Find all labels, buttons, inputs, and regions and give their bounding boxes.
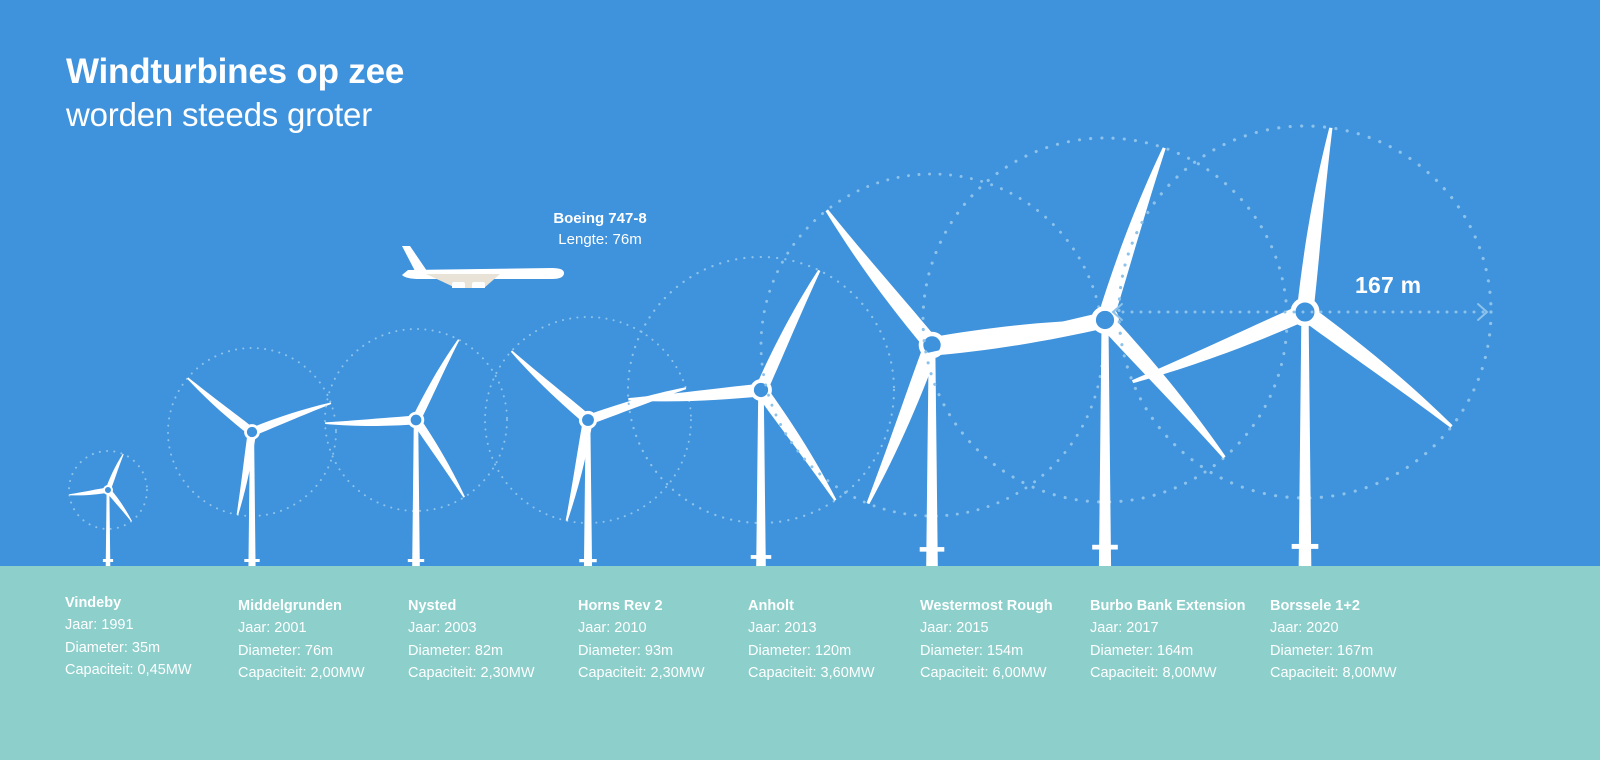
- tower-platform-collar: [751, 555, 772, 559]
- legend-item-capacity: Capaciteit: 8,00MW: [1270, 662, 1397, 685]
- legend-item-capacity: Capaciteit: 6,00MW: [920, 662, 1053, 685]
- tower-platform-collar: [1092, 545, 1118, 550]
- legend-item-year: Jaar: 2017: [1090, 617, 1246, 640]
- rotor-hub: [246, 426, 259, 439]
- wind-turbine: [1119, 126, 1491, 583]
- legend-item: AnholtJaar: 2013Diameter: 120mCapaciteit…: [748, 595, 875, 685]
- legend-item-diameter: Diameter: 35m: [65, 637, 192, 660]
- infographic-canvas: Boeing 747-8 Lengte: 76m Windturbines op…: [0, 0, 1600, 760]
- legend-item-diameter: Diameter: 120m: [748, 640, 875, 663]
- rotor-blade: [250, 399, 332, 436]
- legend-item-year: Jaar: 2001: [238, 617, 365, 640]
- headline-line-2: worden steeds groter: [66, 94, 766, 136]
- legend-item-name: Middelgrunden: [238, 595, 365, 617]
- rotor-blade: [69, 487, 108, 497]
- legend-item-name: Vindeby: [65, 592, 192, 614]
- legend-item: MiddelgrundenJaar: 2001Diameter: 76mCapa…: [238, 595, 365, 685]
- rotor-blade: [325, 416, 416, 428]
- rotor-blade: [412, 337, 463, 422]
- rotor-blade: [820, 205, 938, 350]
- rotor-blade: [586, 383, 687, 425]
- legend-item-name: Borssele 1+2: [1270, 595, 1397, 617]
- legend-item-diameter: Diameter: 76m: [238, 640, 365, 663]
- legend-item-capacity: Capaciteit: 0,45MW: [65, 659, 192, 682]
- turbine-legend: VindebyJaar: 1991Diameter: 35mCapaciteit…: [0, 566, 1600, 760]
- diameter-measure-label: 167 m: [1355, 272, 1421, 299]
- turbine-tower: [756, 390, 766, 583]
- rotor-hub: [752, 381, 770, 399]
- legend-item-year: Jaar: 2020: [1270, 617, 1397, 640]
- legend-item: VindebyJaar: 1991Diameter: 35mCapaciteit…: [65, 592, 192, 682]
- rotor-blade: [1099, 314, 1231, 462]
- legend-item-diameter: Diameter: 164m: [1090, 640, 1246, 663]
- legend-item-year: Jaar: 2015: [920, 617, 1053, 640]
- legend-item-diameter: Diameter: 93m: [578, 640, 705, 663]
- legend-item-year: Jaar: 2010: [578, 617, 705, 640]
- tower-platform-collar: [920, 547, 945, 552]
- wind-turbine: [923, 138, 1287, 583]
- legend-item-diameter: Diameter: 154m: [920, 640, 1053, 663]
- turbine-tower: [412, 420, 420, 583]
- wind-turbine: [628, 257, 894, 583]
- rotor-blade: [1296, 127, 1339, 314]
- legend-item-name: Nysted: [408, 595, 535, 617]
- wind-turbine: [168, 348, 336, 583]
- plane-callout-title: Boeing 747-8: [500, 208, 700, 229]
- rotor-blade: [185, 375, 255, 436]
- legend-item: NystedJaar: 2003Diameter: 82mCapaciteit:…: [408, 595, 535, 685]
- legend-item-name: Horns Rev 2: [578, 595, 705, 617]
- rotor-blade: [1097, 145, 1172, 323]
- rotor-hub: [581, 413, 596, 428]
- legend-item: Westermost RoughJaar: 2015Diameter: 154m…: [920, 595, 1053, 685]
- rotor-blade: [412, 417, 468, 499]
- legend-item-capacity: Capaciteit: 8,00MW: [1090, 662, 1246, 685]
- legend-item-year: Jaar: 2013: [748, 617, 875, 640]
- legend-item-year: Jaar: 1991: [65, 614, 192, 637]
- legend-item-year: Jaar: 2003: [408, 617, 535, 640]
- rotor-hub: [104, 486, 112, 494]
- headline: Windturbines op zee worden steeds groter: [66, 50, 766, 136]
- plane-callout-subtitle: Lengte: 76m: [500, 229, 700, 250]
- legend-item-name: Anholt: [748, 595, 875, 617]
- diameter-measure-arrow: [1100, 298, 1500, 328]
- tower-platform-collar: [1292, 544, 1319, 549]
- legend-item-diameter: Diameter: 167m: [1270, 640, 1397, 663]
- legend-item-name: Burbo Bank Extension: [1090, 595, 1246, 617]
- turbine-tower: [1299, 312, 1312, 583]
- legend-item-diameter: Diameter: 82m: [408, 640, 535, 663]
- legend-item-capacity: Capaciteit: 2,00MW: [238, 662, 365, 685]
- wind-turbine: [325, 329, 507, 583]
- legend-item: Burbo Bank ExtensionJaar: 2017Diameter: …: [1090, 595, 1246, 685]
- legend-item-capacity: Capaciteit: 2,30MW: [578, 662, 705, 685]
- legend-item-capacity: Capaciteit: 2,30MW: [408, 662, 535, 685]
- legend-item: Borssele 1+2Jaar: 2020Diameter: 167mCapa…: [1270, 595, 1397, 685]
- legend-item-capacity: Capaciteit: 3,60MW: [748, 662, 875, 685]
- wind-turbine: [485, 317, 691, 583]
- turbine-tower: [1099, 320, 1112, 583]
- legend-item: Horns Rev 2Jaar: 2010Diameter: 93mCapaci…: [578, 595, 705, 685]
- rotor-blade: [756, 386, 841, 504]
- wind-turbine: [761, 174, 1103, 583]
- legend-item-name: Westermost Rough: [920, 595, 1053, 617]
- plane-callout: Boeing 747-8 Lengte: 76m: [500, 208, 700, 250]
- headline-line-1: Windturbines op zee: [66, 50, 766, 94]
- rotor-hub: [409, 413, 423, 427]
- rotor-blade: [755, 267, 825, 392]
- rotor-blade: [508, 347, 591, 424]
